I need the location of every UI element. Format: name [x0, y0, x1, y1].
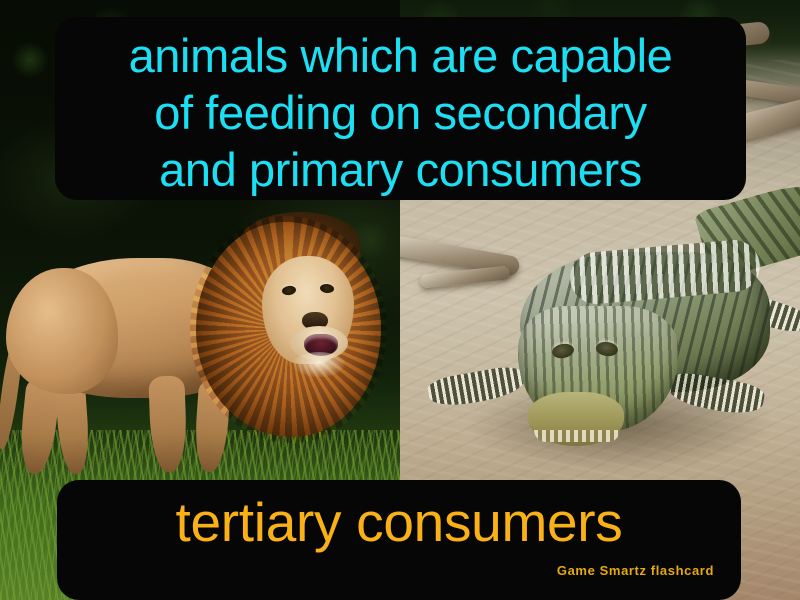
watermark-label: Game Smartz flashcard [557, 563, 714, 578]
definition-line-2: of feeding on secondary [154, 84, 647, 141]
flashcard: animals which are capable of feeding on … [0, 0, 800, 600]
term-label: tertiary consumers [57, 490, 741, 554]
definition-line-3: and primary consumers [159, 141, 642, 198]
term-panel: tertiary consumers Game Smartz flashcard [57, 480, 741, 600]
lion-chin [292, 352, 346, 378]
crocodile-teeth [534, 430, 620, 442]
definition-line-1: animals which are capable [129, 27, 673, 84]
lion-haunch [6, 268, 118, 394]
definition-panel: animals which are capable of feeding on … [55, 17, 746, 200]
